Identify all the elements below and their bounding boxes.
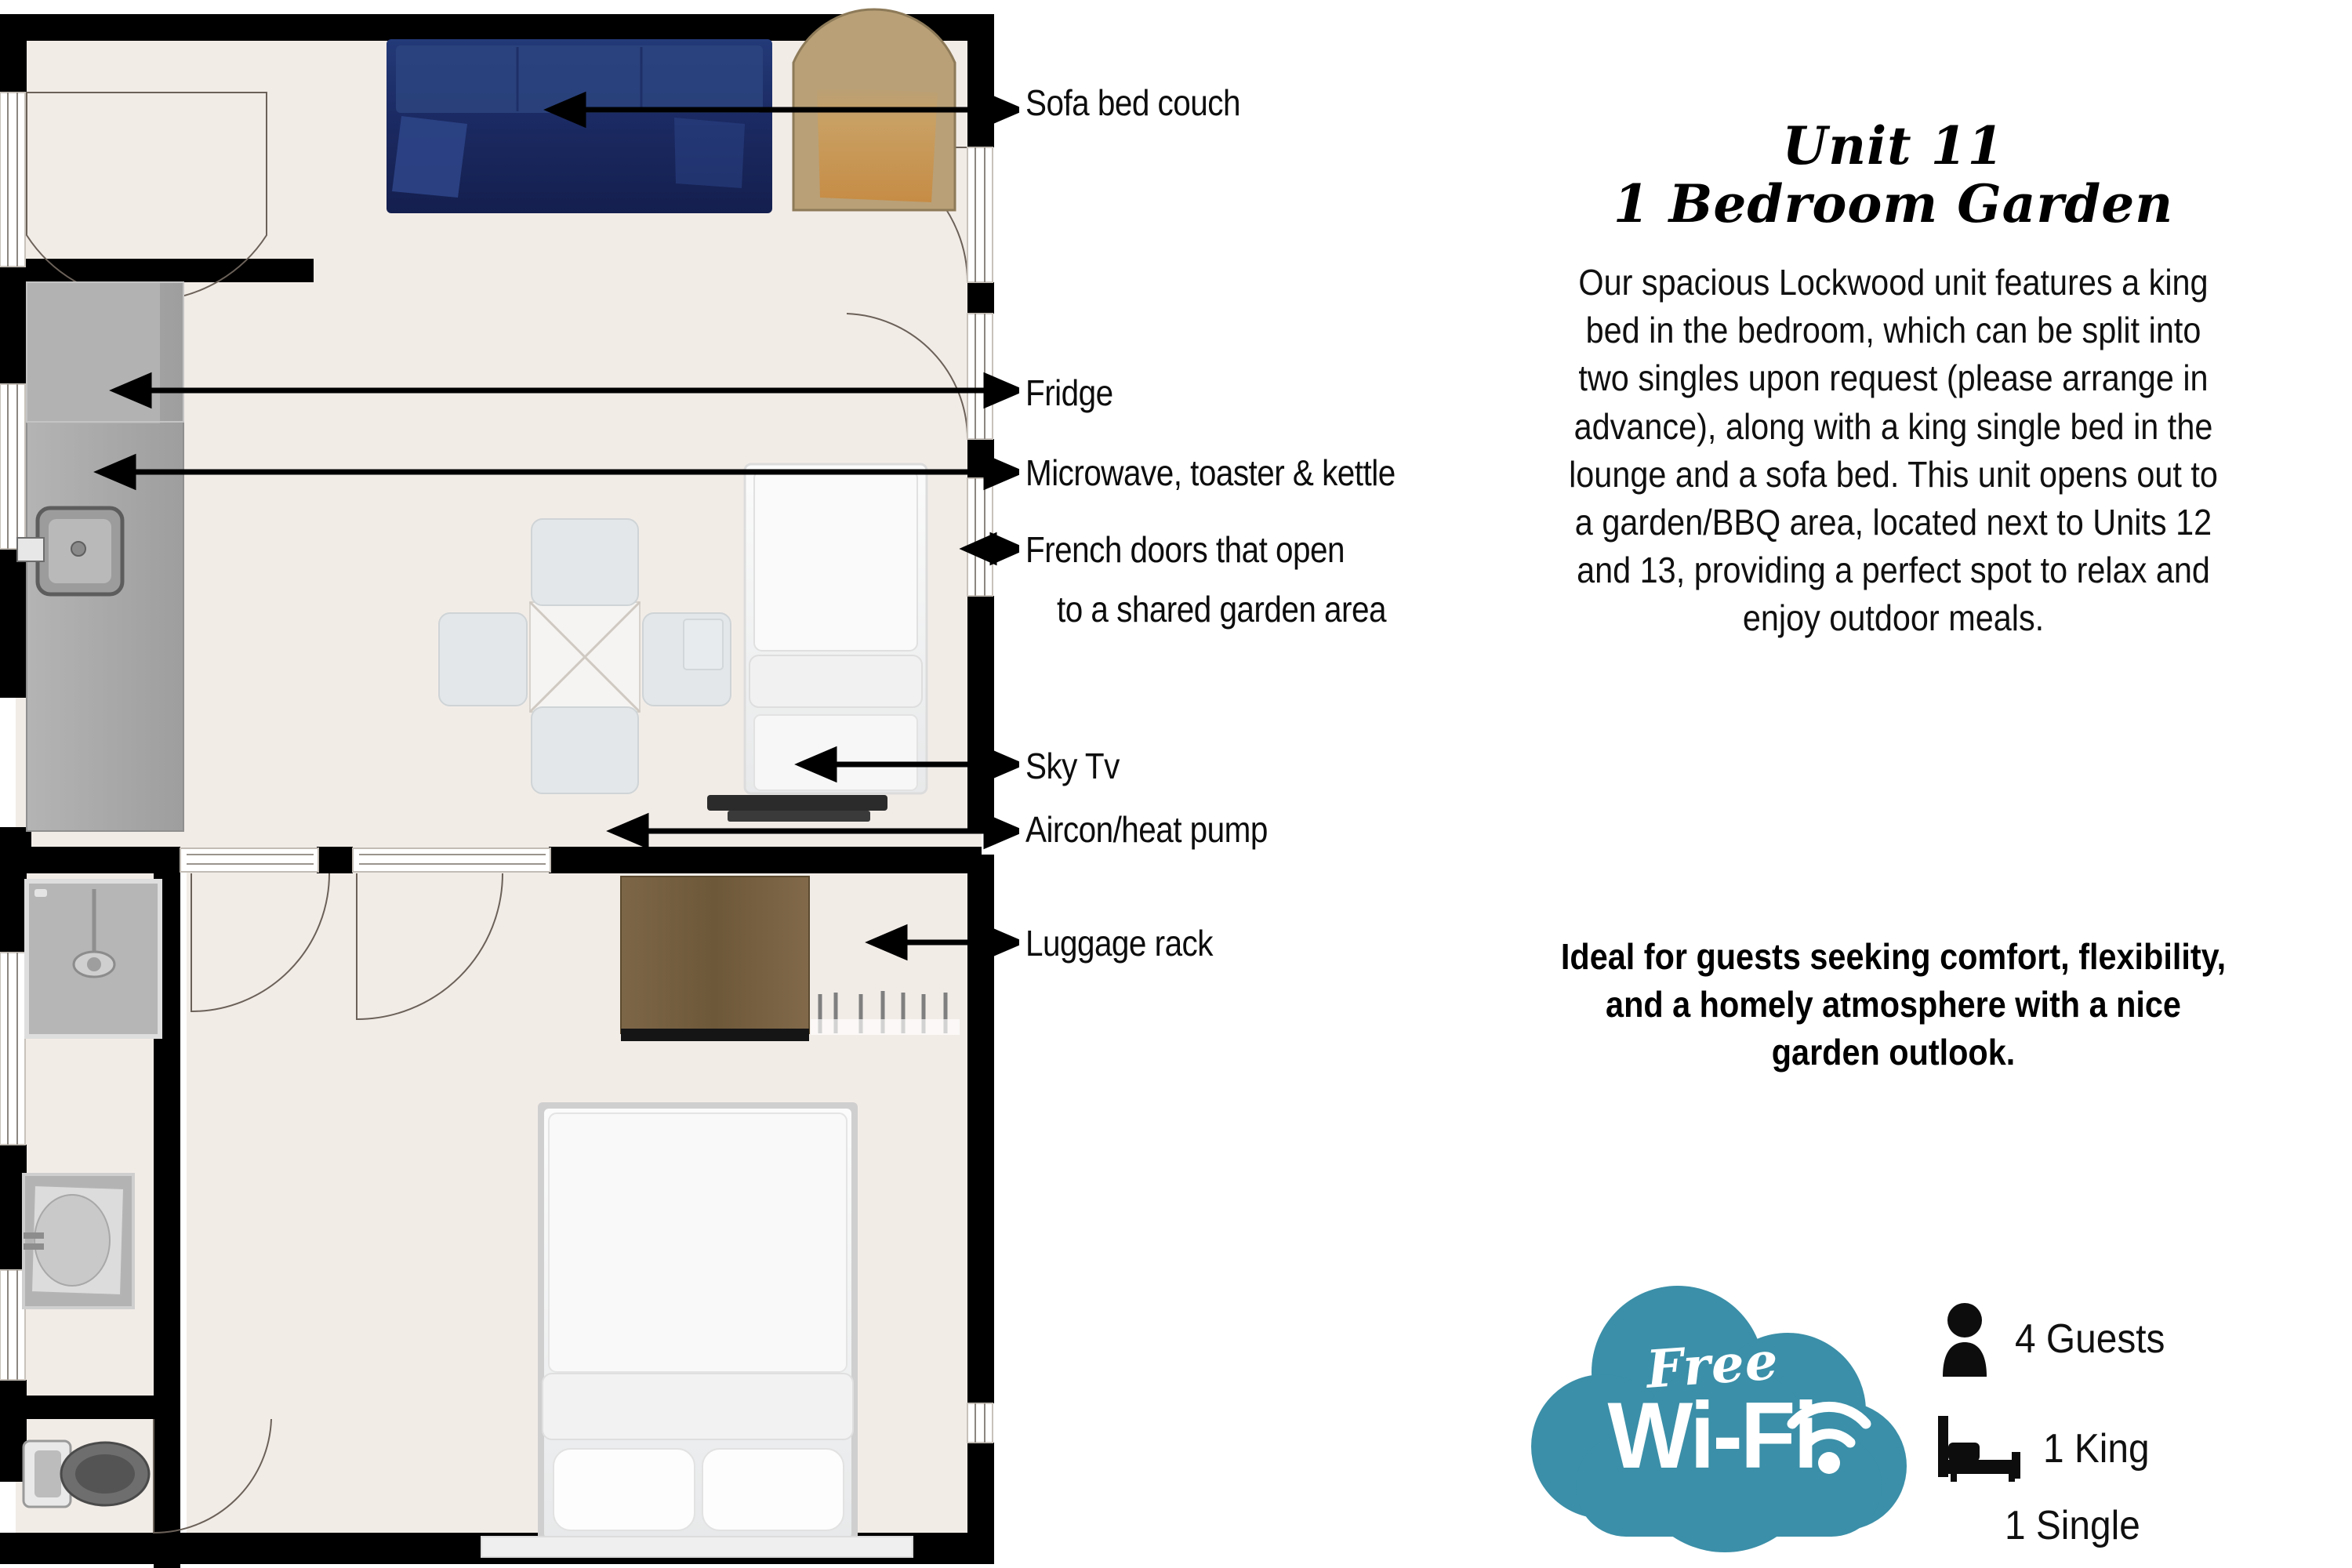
annotation-luggage-rack: Luggage rack xyxy=(1025,925,1213,962)
bed-secondary-label: 1 Single xyxy=(2005,1502,2140,1549)
bed-icon xyxy=(1936,1411,2021,1486)
unit-title: Unit 11 1 Bedroom Garden xyxy=(1435,118,2352,234)
free-wifi-badge: Free Wi-Fi xyxy=(1529,1286,1936,1552)
annotation-fridge: Fridge xyxy=(1025,375,1113,412)
vanity-basin-furniture xyxy=(24,1174,133,1308)
guests-label: 4 Guests xyxy=(2015,1316,2165,1363)
floor-plan: Sofa bed couch Fridge Microwave, toaster… xyxy=(0,0,1019,1568)
king-single-bed-furniture xyxy=(745,464,927,793)
wifi-main-label: Wi-Fi xyxy=(1608,1381,1817,1490)
unit-description: Our spacious Lockwood unit features a ki… xyxy=(1559,259,2229,642)
annotation-microwave-toaster-kettle: Microwave, toaster & kettle xyxy=(1025,455,1396,492)
unit-title-line2: 1 Bedroom Garden xyxy=(1435,176,2352,234)
person-icon xyxy=(1936,1301,1993,1377)
guests-row: 4 Guests xyxy=(1936,1301,2178,1377)
occupancy-summary: 4 Guests 1 King 1 Single xyxy=(1936,1301,2344,1552)
bed-primary-label: 1 King xyxy=(2043,1425,2150,1472)
annotation-french-doors: French doors that open xyxy=(1025,532,1345,568)
annotation-aircon-heat-pump: Aircon/heat pump xyxy=(1025,811,1268,848)
unit-title-line1: Unit 11 xyxy=(1435,118,2352,176)
annotation-french-doors-line2: to a shared garden area xyxy=(1057,591,1386,628)
sky-tv-furniture xyxy=(707,795,887,822)
kitchen-bench-furniture xyxy=(17,282,183,831)
unit-description-highlight: Ideal for guests seeking comfort, flexib… xyxy=(1559,933,2229,1077)
toilet-furniture xyxy=(24,1441,149,1507)
shower-furniture xyxy=(27,881,160,1036)
wall-unit-furniture xyxy=(684,619,723,670)
king-bed-furniture xyxy=(481,1102,913,1557)
annotation-sky-tv: Sky Tv xyxy=(1025,748,1120,785)
info-panel: Unit 11 1 Bedroom Garden Our spacious Lo… xyxy=(1435,0,2352,1568)
sofa-bed-couch-furniture xyxy=(387,39,772,213)
annotation-sofa-bed-couch: Sofa bed couch xyxy=(1025,85,1240,122)
bed-row: 1 King xyxy=(1936,1411,2158,1486)
floor-plan-drawing xyxy=(0,0,1019,1568)
